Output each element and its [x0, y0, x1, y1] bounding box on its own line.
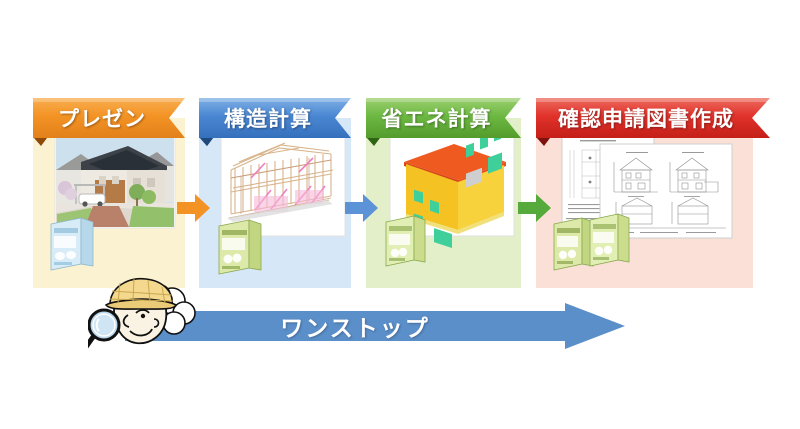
- step-banner-presen[interactable]: プレゼン: [33, 98, 185, 138]
- software-box-kozo: [219, 220, 261, 274]
- flow-arrow-presen-to-kozo: [177, 191, 211, 225]
- step-banner-kakunin-shinsei[interactable]: 確認申請図書作成: [536, 98, 770, 138]
- detective-mascot: [88, 275, 200, 360]
- house-exterior-rendering: [55, 132, 175, 228]
- step-banner-kozo-keisan[interactable]: 構造計算: [199, 98, 351, 138]
- one-stop-arrow: ワンストップ: [125, 303, 625, 349]
- timber-frame-structure-model: [221, 132, 345, 236]
- flow-arrow-kozo-to-shoene: [345, 191, 379, 225]
- flow-arrow-shoene-to-kakunin: [518, 191, 552, 225]
- step-banner-shoene-keisan[interactable]: 省エネ計算: [366, 98, 521, 138]
- software-box-kakunin-2: [590, 214, 629, 266]
- one-stop-arrow-label: ワンストップ: [280, 309, 430, 343]
- software-box-kakunin-1: [554, 218, 593, 270]
- software-box-shoene: [386, 216, 425, 266]
- software-box-presen: [51, 218, 93, 270]
- diagram-canvas: プレゼン 構造計算: [0, 0, 800, 429]
